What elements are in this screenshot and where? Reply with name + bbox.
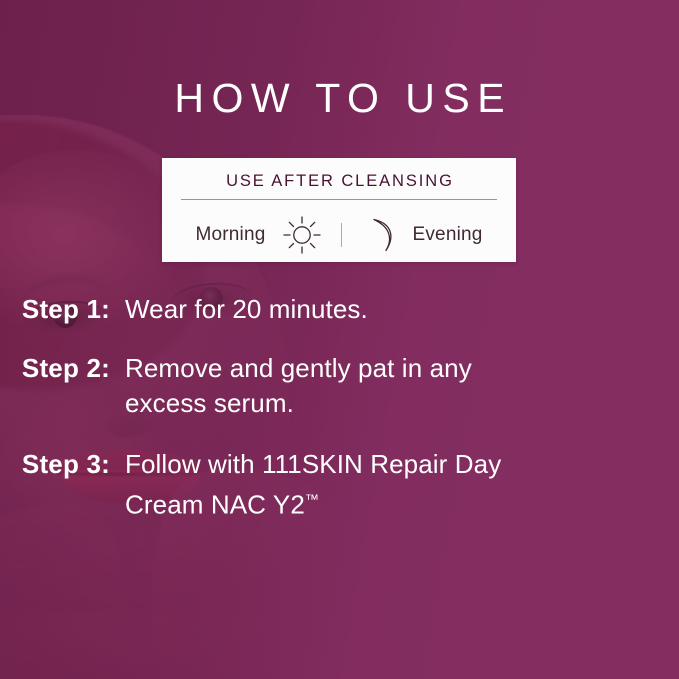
poster-content: HOW TO USE USE AFTER CLEANSING Morning — [0, 0, 679, 679]
sun-icon — [279, 215, 325, 255]
step-3-label: Step 3: — [0, 447, 110, 482]
daypart-row: Morning — [162, 213, 516, 257]
page-title: HOW TO USE — [0, 78, 679, 119]
use-after-cleansing-card: USE AFTER CLEANSING Morning — [162, 158, 516, 262]
step-3-body: Follow with 111SKIN Repair Day Cream NAC… — [125, 449, 501, 520]
step-1-text: Wear for 20 minutes. — [125, 292, 368, 327]
morning-label: Morning — [195, 224, 265, 246]
evening-label: Evening — [412, 224, 482, 246]
step-item: Step 1: Wear for 20 minutes. — [0, 292, 679, 327]
trademark-symbol: ™ — [305, 491, 319, 507]
steps-list: Step 1: Wear for 20 minutes. Step 2: Rem… — [0, 292, 679, 547]
card-divider-rule — [181, 199, 497, 200]
how-to-use-poster: HOW TO USE USE AFTER CLEANSING Morning — [0, 0, 679, 679]
step-2-text: Remove and gently pat in any excess seru… — [125, 351, 545, 421]
moon-icon — [364, 215, 400, 255]
step-1-label: Step 1: — [0, 292, 110, 327]
card-heading: USE AFTER CLEANSING — [162, 172, 516, 191]
step-item: Step 3: Follow with 111SKIN Repair Day C… — [0, 447, 679, 523]
vertical-divider — [341, 223, 342, 247]
step-3-text: Follow with 111SKIN Repair Day Cream NAC… — [125, 447, 545, 523]
step-2-label: Step 2: — [0, 351, 110, 386]
step-item: Step 2: Remove and gently pat in any exc… — [0, 351, 679, 421]
